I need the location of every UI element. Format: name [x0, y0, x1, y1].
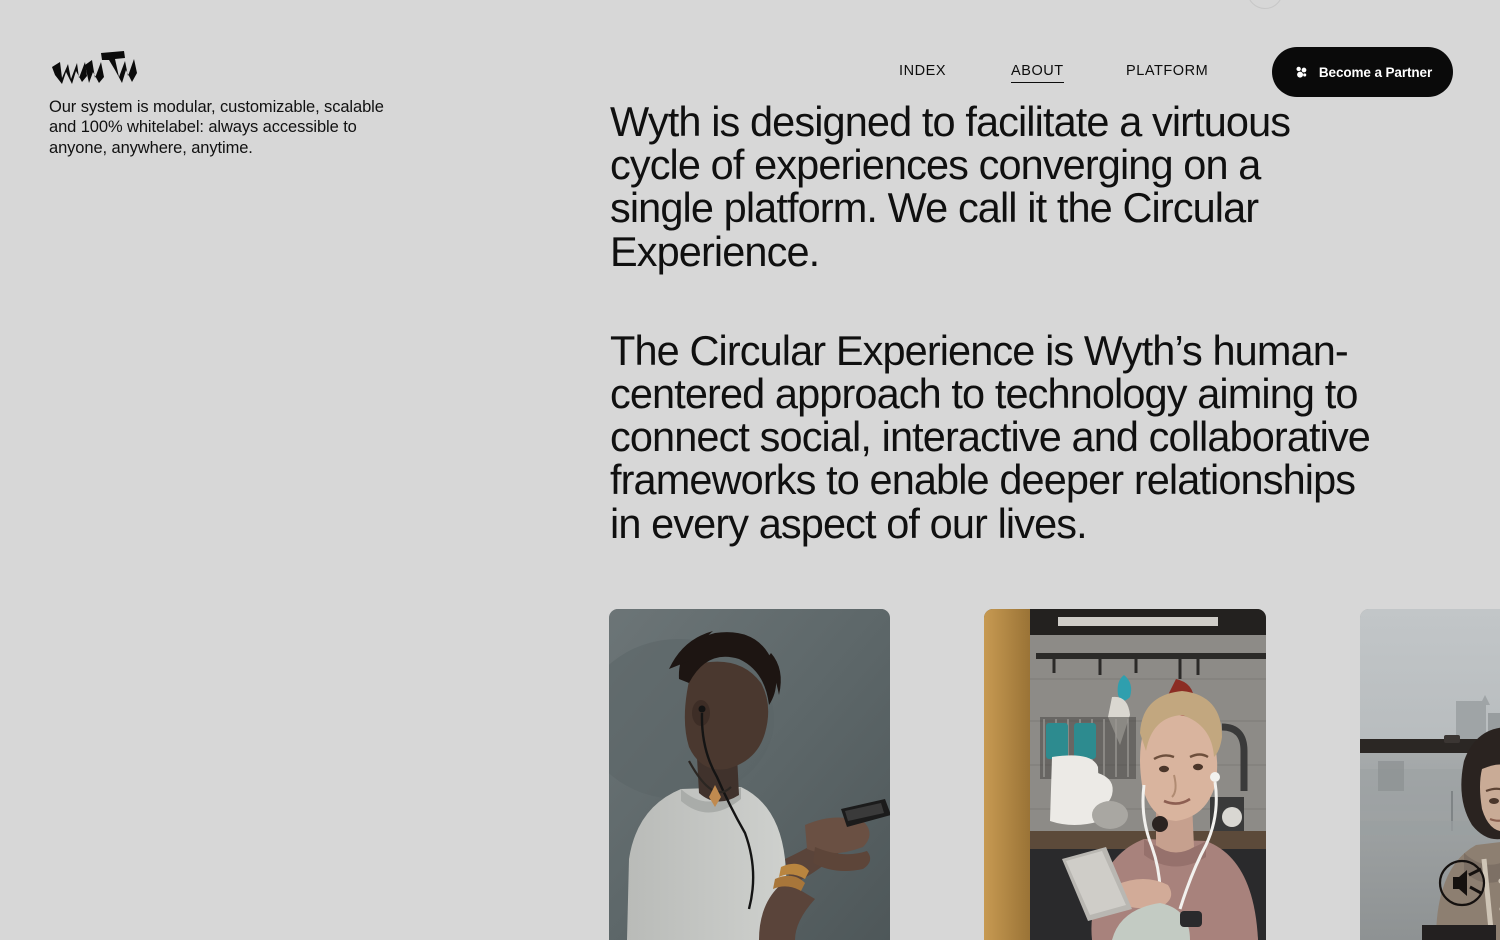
- brand-block: Our system is modular, customizable, sca…: [49, 47, 409, 158]
- nav-link-about[interactable]: ABOUT: [1011, 63, 1064, 83]
- molecule-cluster-icon: [1293, 64, 1310, 81]
- become-a-partner-button[interactable]: Become a Partner: [1272, 47, 1453, 97]
- become-a-partner-label: Become a Partner: [1319, 65, 1432, 80]
- card-man-with-phone[interactable]: [609, 609, 890, 940]
- about-copy: Wyth is designed to facilitate a virtuou…: [610, 100, 1370, 545]
- page-root: Our system is modular, customizable, sca…: [0, 0, 1500, 940]
- card-woman-in-kitchen[interactable]: [984, 609, 1266, 940]
- nav-link-platform[interactable]: PLATFORM: [1126, 63, 1208, 82]
- card-man-with-phone-image: [609, 609, 890, 940]
- card-woman-at-window[interactable]: [1360, 609, 1500, 940]
- card-woman-in-kitchen-image: [984, 609, 1266, 940]
- nav-item-index[interactable]: INDEX: [899, 62, 946, 82]
- paragraph-intro: Wyth is designed to facilitate a virtuou…: [610, 100, 1370, 273]
- nav-item-about[interactable]: ABOUT: [1011, 62, 1064, 83]
- brand-tagline: Our system is modular, customizable, sca…: [49, 97, 394, 158]
- card-woman-at-window-image: [1360, 609, 1500, 940]
- nav-link-index[interactable]: INDEX: [899, 63, 946, 82]
- wyth-logo-icon[interactable]: [49, 47, 141, 87]
- paragraph-definition: The Circular Experience is Wyth’s human-…: [610, 329, 1370, 545]
- decorative-circle: [1247, 0, 1283, 9]
- nav-item-platform[interactable]: PLATFORM: [1126, 62, 1208, 82]
